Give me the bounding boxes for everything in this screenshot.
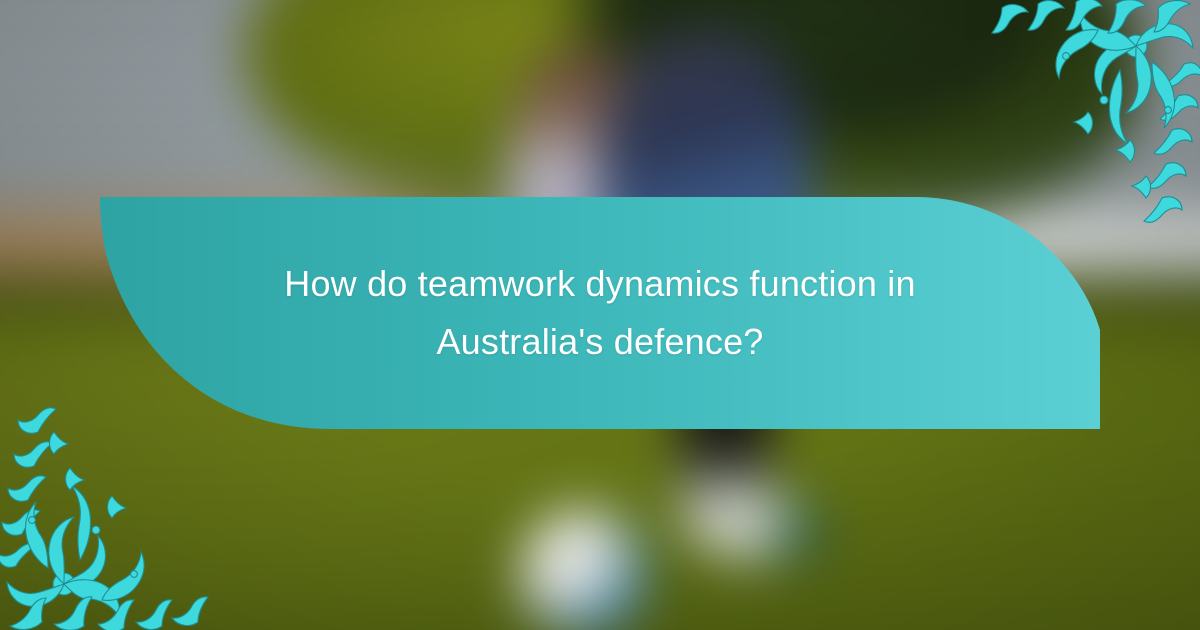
floral-filigree-icon-bottom-left [0,400,230,630]
headline-line-1: How do teamwork dynamics function in [284,255,915,313]
floral-filigree-icon-top-right [970,0,1200,230]
social-card-canvas: How do teamwork dynamics function in Aus… [0,0,1200,630]
headline-text: How do teamwork dynamics function in Aus… [150,197,1050,429]
headline-line-2: Australia's defence? [436,313,763,371]
